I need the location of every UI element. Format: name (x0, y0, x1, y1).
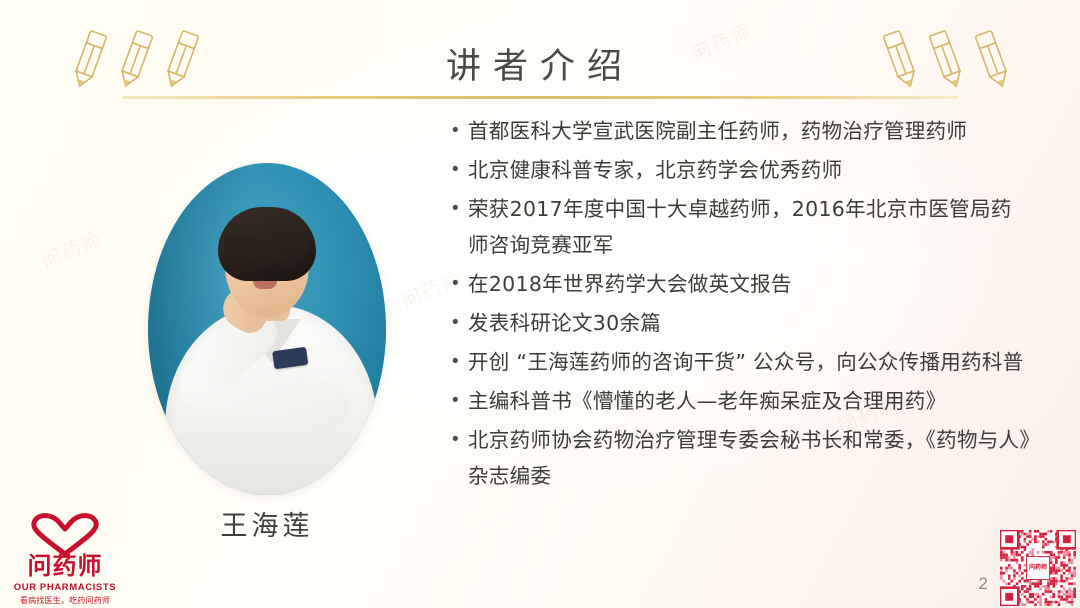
list-item-text: 首都医科大学宣武医院副主任药师，药物治疗管理药师 (468, 113, 1032, 149)
list-item: • 荣获2017年度中国十大卓越药师，2016年北京市医管局药师咨询竞赛亚军 (452, 191, 1032, 263)
list-item: • 北京健康科普专家，北京药学会优秀药师 (452, 152, 1032, 188)
list-item-text: 北京药师协会药物治疗管理专委会秘书长和常委，《药物与人》杂志编委 (468, 422, 1032, 494)
bullet-marker-icon: • (452, 344, 468, 380)
slide-canvas: 问药师 问药师 问药师 问药师 (0, 0, 1080, 608)
bullet-marker-icon: • (452, 266, 468, 302)
page-title: 讲者介绍 (0, 38, 1080, 89)
list-item-text: 开创 “王海莲药师的咨询干货” 公众号，向公众传播用药科普 (468, 344, 1032, 380)
speaker-bio-list: • 首都医科大学宣武医院副主任药师，药物治疗管理药师 • 北京健康科普专家，北京… (452, 113, 1032, 497)
brand-logo: 问药师 OUR PHARMACISTS 看病找医生，吃药问药师 (6, 512, 124, 606)
speaker-photo (148, 163, 386, 495)
list-item: • 主编科普书《懵懂的老人—老年痴呆症及合理用药》 (452, 383, 1032, 419)
list-item-text: 主编科普书《懵懂的老人—老年痴呆症及合理用药》 (468, 383, 1032, 419)
list-item-text: 在2018年世界药学大会做英文报告 (468, 266, 1032, 302)
photo-hair (218, 207, 316, 281)
list-item: • 北京药师协会药物治疗管理专委会秘书长和常委，《药物与人》杂志编委 (452, 422, 1032, 494)
list-item: • 开创 “王海莲药师的咨询干货” 公众号，向公众传播用药科普 (452, 344, 1032, 380)
photo-eye-right (274, 255, 285, 260)
bullet-marker-icon: • (452, 152, 468, 188)
list-item: • 在2018年世界药学大会做英文报告 (452, 266, 1032, 302)
watermark-text: 问药师 (37, 223, 106, 273)
bullet-marker-icon: • (452, 191, 468, 227)
logo-tagline: 看病找医生，吃药问药师 (6, 595, 124, 606)
photo-eye-left (242, 255, 253, 260)
speaker-photo-oval (148, 163, 386, 495)
list-item-text: 北京健康科普专家，北京药学会优秀药师 (468, 152, 1032, 188)
logo-english-name: OUR PHARMACISTS (6, 582, 124, 593)
bullet-marker-icon: • (452, 383, 468, 419)
qr-center-logo: 问药师 (1026, 556, 1050, 580)
list-item-text: 荣获2017年度中国十大卓越药师，2016年北京市医管局药师咨询竞赛亚军 (468, 191, 1032, 263)
bullet-marker-icon: • (452, 422, 468, 458)
bullet-marker-icon: • (452, 113, 468, 149)
speaker-name: 王海莲 (148, 504, 386, 543)
qr-code[interactable]: 问药师 (1000, 530, 1076, 606)
bullet-marker-icon: • (452, 305, 468, 341)
page-number: 2 (979, 574, 988, 594)
list-item: • 发表科研论文30余篇 (452, 305, 1032, 341)
heart-icon (28, 512, 102, 556)
list-item: • 首都医科大学宣武医院副主任药师，药物治疗管理药师 (452, 113, 1032, 149)
list-item-text: 发表科研论文30余篇 (468, 305, 1032, 341)
photo-name-badge (272, 347, 308, 370)
title-divider (122, 96, 958, 99)
